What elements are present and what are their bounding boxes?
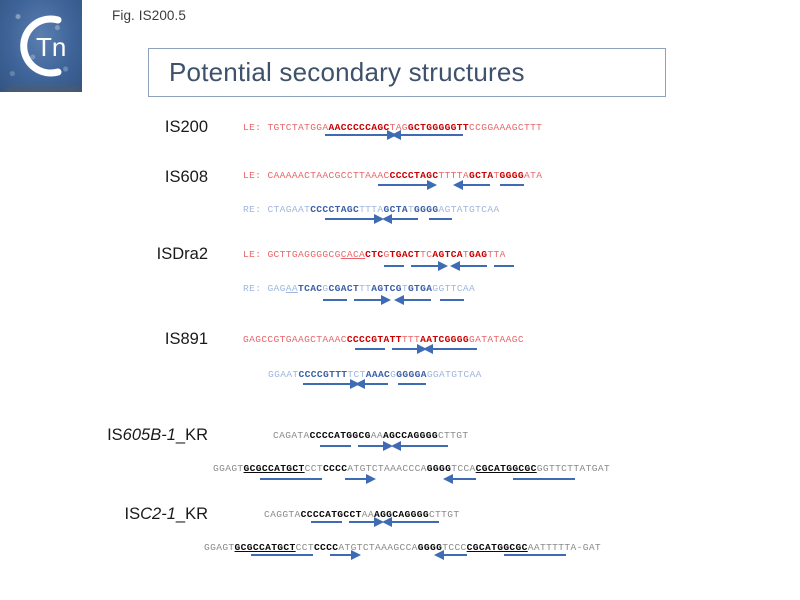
sequence-segment: GGAGT (213, 463, 244, 474)
inverted-repeat-arrow-right (354, 299, 382, 301)
element-label-is608: IS608 (108, 168, 208, 187)
inverted-repeat-arrow-left (432, 348, 477, 350)
repeat-bar (355, 348, 385, 350)
sequence-segment: TTTTA (438, 170, 469, 181)
sequence-segment: TCAC (298, 283, 322, 294)
sequence-end-tag: LE: (243, 249, 267, 260)
element-label-isdra2: ISDra2 (88, 245, 208, 264)
sequence-segment: AACCCCCAGC (329, 122, 390, 133)
repeat-bar (494, 265, 514, 267)
sequence-segment: GCGCCATGCT (244, 463, 305, 474)
ctn-logo-mark: Tn (0, 0, 82, 92)
slide-canvas: Tn Fig. IS200.5 Potential secondary stru… (0, 0, 800, 600)
sequence-line-isdra2-1: LE: GCTTGAGGGGCGCACACTCGTGACTTCAGTCATGAG… (243, 249, 506, 260)
sequence-segment: AGCCAGGGG (383, 430, 438, 441)
inverted-repeat-arrow-right (303, 383, 351, 385)
sequence-segment: CCCCG (347, 334, 378, 345)
sequence-end-tag: RE: (243, 283, 267, 294)
sequence-segment: CAGGTA (264, 509, 301, 520)
sequence-segment: CCCCTAGC (310, 204, 359, 215)
element-label-is891: IS891 (108, 330, 208, 349)
sequence-segment: CCCC (314, 542, 338, 553)
repeat-bar (251, 554, 313, 556)
inverted-repeat-arrow-right (325, 218, 375, 220)
sequence-segment: GGTTCTTATGAT (537, 463, 610, 474)
inverted-repeat-arrow-right (349, 521, 375, 523)
sequence-segment: CACA (341, 249, 365, 260)
repeat-bar (513, 478, 575, 480)
sequence-segment: CCCCTAGC (390, 170, 439, 181)
sequence-segment: ATA (524, 170, 542, 181)
figure-label: Fig. IS200.5 (112, 8, 186, 23)
sequence-segment: ATGTCTAAAGCCA (338, 542, 417, 553)
sequence-segment: GCGCCATGCT (235, 542, 296, 553)
sequence-line-is608-1: LE: CAAAAACTAACGCCTTAAACCCCCTAGCTTTTAGCT… (243, 170, 542, 181)
repeat-bar (500, 184, 524, 186)
inverted-repeat-arrow-right (392, 348, 418, 350)
sequence-segment: TCT (347, 369, 365, 380)
sequence-segment: GGGGA (396, 369, 427, 380)
sequence-end-tag: RE: (243, 204, 267, 215)
sequence-line-isdra2-2: RE: GAGAATCACGCGACTTTAGTCGTGTGAGGTTCAA (243, 283, 475, 294)
inverted-repeat-arrow-left (403, 299, 431, 301)
sequence-segment: GATATAAGC (469, 334, 524, 345)
repeat-bar (384, 265, 404, 267)
inverted-repeat-arrow-right (325, 134, 388, 136)
sequence-segment: GGGG (500, 170, 524, 181)
sequence-line-is608-2: RE: CTAGAATCCCCTAGCTTTAGCTATGGGGAGTATGTC… (243, 204, 500, 215)
repeat-bar (504, 554, 566, 556)
sequence-end-tag: LE: (243, 170, 267, 181)
sequence-segment: CAAAAACTAACGCCTTAAAC (267, 170, 389, 181)
sequence-segment: GCTA (384, 204, 408, 215)
logo-shadow (6, 86, 82, 92)
sequence-segment: TT (359, 283, 371, 294)
sequence-segment: AA (362, 509, 374, 520)
sequence-segment: GGAGT (204, 542, 235, 553)
sequence-segment: GCTGGGGGTT (408, 122, 469, 133)
sequence-line-isc2-1_kr-1: CAGGTACCCCATGCCTAAAGGCAGGGGCTTGT (264, 509, 459, 520)
sequence-segment: CCCCA (301, 509, 332, 520)
inverted-repeat-arrow-left (459, 265, 487, 267)
inverted-repeat-arrow-left (443, 554, 467, 556)
sequence-segment: CGCATGGCGC (467, 542, 528, 553)
repeat-bar (429, 218, 452, 220)
element-label-is605b-1_kr: IS605B-1_KR (48, 426, 208, 445)
sequence-line-is605b-1_kr-1: CAGATACCCCATGGCGAAAGCCAGGGGCTTGT (273, 430, 468, 441)
sequence-segment: TTT (402, 334, 420, 345)
inverted-repeat-arrow-left (400, 134, 463, 136)
sequence-segment: AGTCG (371, 283, 402, 294)
sequence-segment: TGCCT (331, 509, 362, 520)
sequence-line-is605b-1_kr-2: GGAGTGCGCCATGCTCCTCCCCATGTCTAAACCCAGGGGT… (213, 463, 610, 474)
inverted-repeat-arrow-left (452, 478, 476, 480)
sequence-segment: GCTTGAGGGGCG (267, 249, 340, 260)
sequence-segment: CGACT (329, 283, 360, 294)
sequence-segment: CCT (305, 463, 323, 474)
sequence-segment: GAGCCGTGAAGCTAAAC (243, 334, 347, 345)
element-label-isc2-1_kr: ISC2-1_KR (58, 505, 208, 524)
inverted-repeat-arrow-left (400, 445, 448, 447)
inverted-repeat-arrow-right (345, 478, 367, 480)
sequence-segment: GGTTCAA (432, 283, 475, 294)
repeat-bar (323, 299, 347, 301)
sequence-segment: CGCATGGCGC (476, 463, 537, 474)
sequence-segment: GAG (267, 283, 285, 294)
ctn-logo: Tn (0, 0, 82, 92)
sequence-segment: GGGG (418, 542, 442, 553)
sequence-segment: AATTTTTA-GAT (528, 542, 601, 553)
sequence-segment: CAGATA (273, 430, 310, 441)
sequence-line-is200-1: LE: TGTCTATGGAAACCCCCAGCTAGGCTGGGGGTTCCG… (243, 122, 542, 133)
inverted-repeat-arrow-left (391, 218, 418, 220)
sequence-segment: TTTA (359, 204, 383, 215)
sequence-segment: CCGGAAAGCTTT (469, 122, 542, 133)
sequence-segment: GGAAT (268, 369, 299, 380)
repeat-bar (320, 445, 351, 447)
sequence-segment: TGACT (390, 249, 421, 260)
sequence-end-tag: LE: (243, 122, 267, 133)
sequence-segment: CCCCA (310, 430, 341, 441)
sequence-segment: AA (371, 430, 383, 441)
sequence-segment: TATT (377, 334, 401, 345)
repeat-bar (311, 521, 342, 523)
sequence-segment: CTC (365, 249, 383, 260)
title-box: Potential secondary structures (148, 48, 666, 97)
sequence-segment: CCCC (323, 463, 347, 474)
sequence-segment: CTAGAAT (267, 204, 310, 215)
inverted-repeat-arrow-left (364, 383, 388, 385)
sequence-segment: GGGG (414, 204, 438, 215)
inverted-repeat-arrow-left (391, 521, 439, 523)
sequence-segment: AAAC (366, 369, 390, 380)
sequence-segment: GGGG (427, 463, 451, 474)
sequence-line-isc2-1_kr-2: GGAGTGCGCCATGCTCCTCCCCATGTCTAAAGCCAGGGGT… (204, 542, 601, 553)
inverted-repeat-arrow-right (411, 265, 439, 267)
sequence-segment: TAG (390, 122, 408, 133)
svg-text:Tn: Tn (36, 32, 66, 62)
sequence-segment: TGGCG (340, 430, 371, 441)
sequence-line-is891-2: GGAATCCCCGTTTTCTAAACGGGGGAGGATGTCAA (268, 369, 482, 380)
sequence-segment: TGTCTATGGA (267, 122, 328, 133)
sequence-segment: CCT (296, 542, 314, 553)
inverted-repeat-arrow-left (462, 184, 490, 186)
sequence-segment: AGTATGTCAA (438, 204, 499, 215)
repeat-bar (260, 478, 322, 480)
sequence-segment: CTTGT (429, 509, 460, 520)
sequence-segment: ATGTCTAAACCCA (347, 463, 426, 474)
sequence-segment: CCCCGTTT (299, 369, 348, 380)
inverted-repeat-arrow-right (378, 184, 428, 186)
sequence-segment: GGATGTCAA (427, 369, 482, 380)
repeat-bar (440, 299, 464, 301)
sequence-segment: AGGCAGGGG (374, 509, 429, 520)
sequence-segment: AA (286, 283, 298, 294)
repeat-bar (398, 383, 426, 385)
inverted-repeat-arrow-right (358, 445, 384, 447)
sequence-line-is891-1: GAGCCGTGAAGCTAAACCCCCGTATTTTTAATCGGGGGAT… (243, 334, 524, 345)
sequence-segment: TTA (487, 249, 505, 260)
sequence-segment: AATCGGGG (420, 334, 469, 345)
sequence-segment: TC (420, 249, 432, 260)
sequence-segment: GCTA (469, 170, 493, 181)
inverted-repeat-arrow-right (330, 554, 352, 556)
element-label-is200: IS200 (108, 118, 208, 137)
sequence-segment: TCCC (442, 542, 466, 553)
sequence-segment: TCCA (451, 463, 475, 474)
sequence-segment: CTTGT (438, 430, 469, 441)
sequence-segment: GAG (469, 249, 487, 260)
sequence-segment: AGTCA (432, 249, 463, 260)
page-title: Potential secondary structures (149, 57, 525, 88)
sequence-segment: GTGA (408, 283, 432, 294)
